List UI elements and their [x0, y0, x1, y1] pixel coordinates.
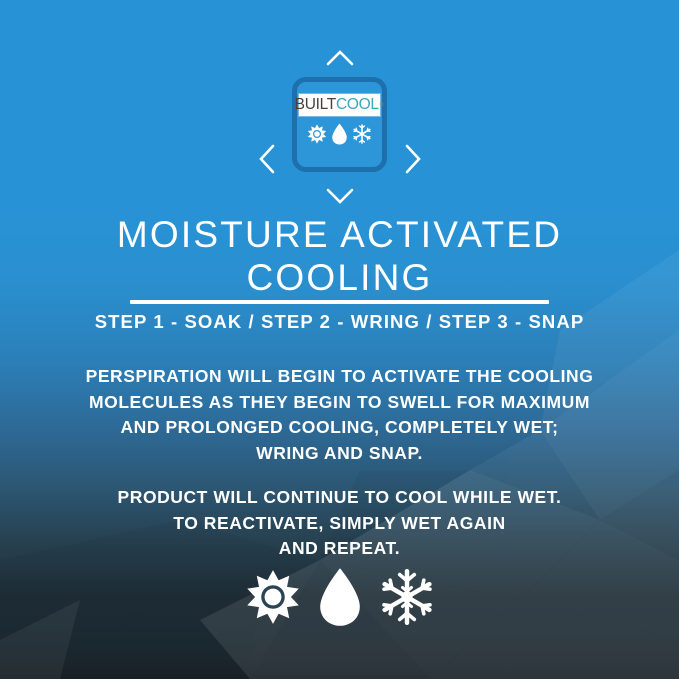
page-title-line-2: COOLING	[0, 257, 679, 300]
feature-icon-row	[0, 567, 679, 627]
title-divider	[130, 300, 549, 304]
water-droplet-icon	[331, 123, 348, 145]
chevron-right-icon	[396, 142, 430, 176]
body-1-line-1: PERSPIRATION WILL BEGIN TO ACTIVATE THE …	[60, 364, 619, 390]
logo-icon-row	[307, 123, 372, 145]
builtcool-logo-badge: BUILTCOOL®	[292, 77, 387, 172]
trademark-symbol: ®	[380, 102, 384, 108]
body-paragraph-2: PRODUCT WILL CONTINUE TO COOL WHILE WET.…	[60, 485, 619, 562]
body-2-line-3: AND REPEAT.	[60, 536, 619, 562]
snowflake-icon	[352, 124, 372, 144]
brand-name-built: BUILT	[295, 97, 336, 113]
page-title-line-1: MOISTURE ACTIVATED	[117, 214, 562, 255]
steps-summary-line: STEP 1 - SOAK / STEP 2 - WRING / STEP 3 …	[0, 311, 679, 333]
snowflake-icon	[379, 569, 435, 625]
chevron-left-icon	[250, 142, 284, 176]
product-info-poster: BUILTCOOL®	[0, 0, 679, 679]
sun-icon	[245, 569, 301, 625]
brand-name-band: BUILTCOOL®	[299, 94, 380, 116]
brand-name-cool: COOL	[336, 97, 379, 113]
page-title: MOISTURE ACTIVATED COOLING	[0, 214, 679, 300]
body-paragraph-1: PERSPIRATION WILL BEGIN TO ACTIVATE THE …	[60, 364, 619, 466]
badge-cluster: BUILTCOOL®	[0, 38, 679, 210]
chevron-up-icon	[323, 42, 357, 76]
body-2-line-1: PRODUCT WILL CONTINUE TO COOL WHILE WET.	[60, 485, 619, 511]
body-2-line-2: TO REACTIVATE, SIMPLY WET AGAIN	[60, 511, 619, 537]
body-1-line-4: WRING AND SNAP.	[60, 441, 619, 467]
water-droplet-icon	[317, 567, 363, 627]
body-1-line-2: MOLECULES AS THEY BEGIN TO SWELL FOR MAX…	[60, 390, 619, 416]
body-1-line-3: AND PROLONGED COOLING, COMPLETELY WET;	[60, 415, 619, 441]
chevron-down-icon	[323, 178, 357, 212]
sun-icon	[307, 124, 327, 144]
